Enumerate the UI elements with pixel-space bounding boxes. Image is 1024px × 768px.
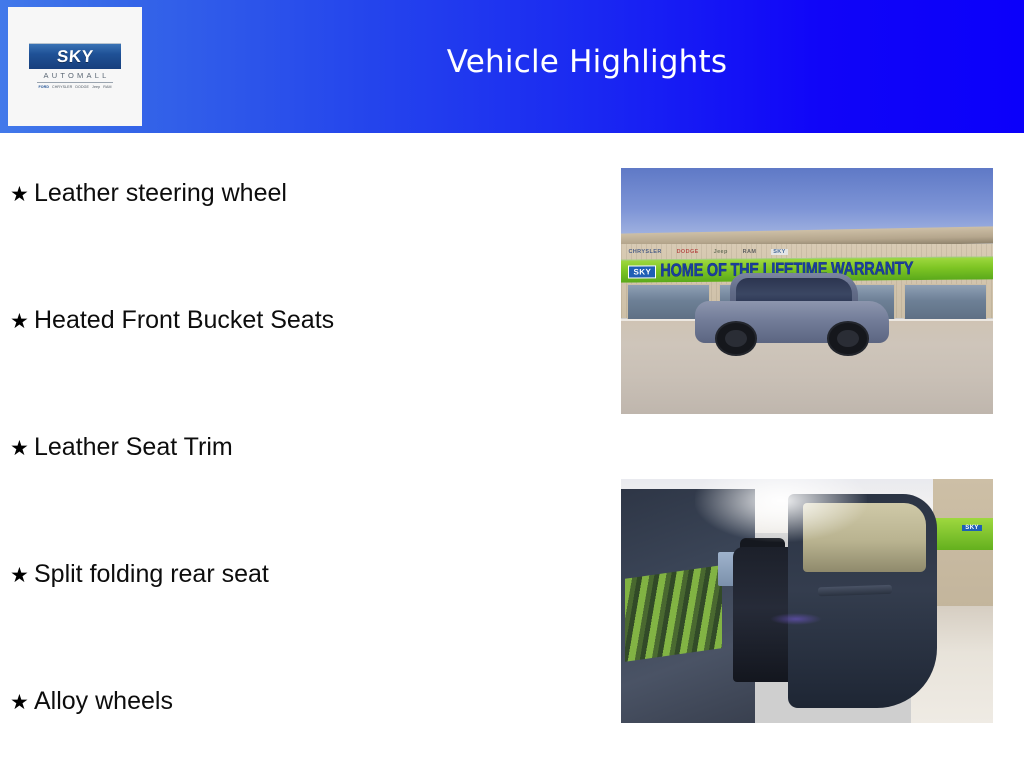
star-bullet-icon: ★ [10,565,34,586]
photo-sun-glow [695,479,866,542]
list-item: ★ Heated Front Bucket Seats [10,308,334,333]
photo-suv-exterior [695,276,888,357]
logo-brand-chrysler: CHRYSLER [52,86,72,90]
feature-label: Alloy wheels [34,689,173,714]
vehicle-highlights-list: ★ Leather steering wheel ★ Heated Front … [0,133,600,768]
page-header: SKY AUTOMALL FORD CHRYSLER DODGE Jeep RA… [0,0,1024,133]
photo-brand-chrysler: CHRYSLER [628,249,661,255]
logo-brand-dodge: DODGE [75,86,89,90]
logo-brand-row: FORD CHRYSLER DODGE Jeep RAM [29,86,121,90]
suv-front-alloy-wheel [715,321,758,356]
photo-brand-jeep: Jeep [714,249,728,255]
list-item: ★ Leather steering wheel [10,181,287,206]
logo-divider [37,82,113,83]
photo-banner-sky-chip: SKY [628,265,656,278]
page-title: Vehicle Highlights [150,0,1024,133]
photo-dealership-building [933,479,993,621]
star-bullet-icon: ★ [10,184,34,205]
logo-brand-text: SKY [56,48,94,65]
photo-brand-sky: SKY [771,249,788,255]
star-bullet-icon: ★ [10,311,34,332]
logo-brand-ford: FORD [38,86,49,90]
logo-brand-ram: RAM [103,86,111,90]
logo-inner: SKY AUTOMALL FORD CHRYSLER DODGE Jeep RA… [29,43,121,89]
list-item: ★ Alloy wheels [10,689,173,714]
list-item: ★ Leather Seat Trim [10,435,233,460]
photo-banner-sky-chip: SKY [962,525,982,531]
vehicle-interior-photo: SKY [621,479,993,723]
logo-subtitle: AUTOMALL [29,72,121,80]
feature-label: Split folding rear seat [34,562,269,587]
list-item: ★ Split folding rear seat [10,562,269,587]
logo-brand-jeep: Jeep [92,86,100,90]
feature-label: Heated Front Bucket Seats [34,308,334,333]
vehicle-exterior-photo: CHRYSLER DODGE Jeep RAM SKY SKY HOME OF … [621,168,993,414]
feature-label: Leather Seat Trim [34,435,233,460]
photo-green-graphics-wrap [625,565,722,662]
photo-lens-flare [770,613,822,625]
star-bullet-icon: ★ [10,692,34,713]
photo-brand-dodge: DODGE [677,249,699,255]
photo-brand-ram: RAM [743,249,757,255]
photo-dealership-banner [933,518,993,550]
suv-rear-alloy-wheel [827,321,870,356]
star-bullet-icon: ★ [10,438,34,459]
logo-banner: SKY [29,43,121,69]
feature-label: Leather steering wheel [34,181,287,206]
dealer-logo[interactable]: SKY AUTOMALL FORD CHRYSLER DODGE Jeep RA… [8,7,142,126]
